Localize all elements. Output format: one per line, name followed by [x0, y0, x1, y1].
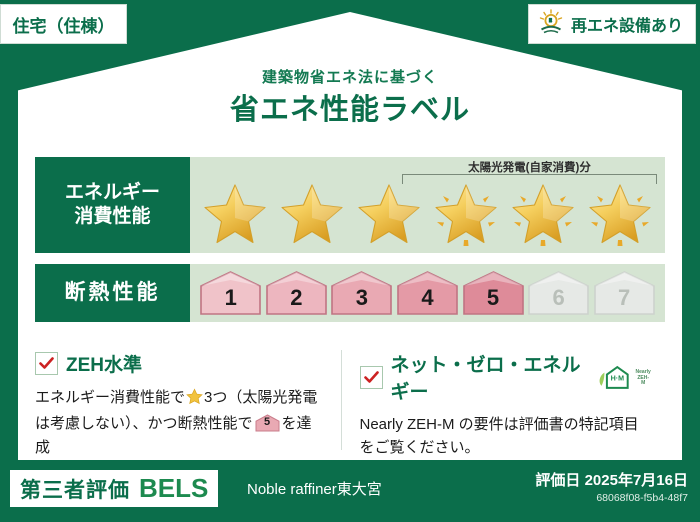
grade-badge-inline: 5: [255, 414, 280, 432]
insulation-label-text: 断熱性能: [65, 280, 161, 306]
zeh-standard-column: ZEH水準 エネルギー消費性能で 3つ（太陽光発電は考慮しない）、かつ断熱性能で…: [35, 350, 341, 450]
bels-logo-text: BELS: [139, 473, 208, 504]
criteria-columns: ZEH水準 エネルギー消費性能で 3つ（太陽光発電は考慮しない）、かつ断熱性能で…: [35, 350, 665, 450]
insulation-grade-number: 6: [552, 285, 564, 316]
zeh-title: ZEH水準: [66, 350, 142, 377]
zeh-description: エネルギー消費性能で 3つ（太陽光発電は考慮しない）、かつ断熱性能で 5 を達成: [35, 386, 327, 459]
building-name: Noble raffiner東大宮: [247, 478, 382, 499]
star-icon: [186, 388, 203, 412]
evaluation-id: 68068f08-f5b4-48f7: [596, 492, 688, 504]
renewable-badge-text: 再エネ設備あり: [571, 12, 683, 36]
net-zero-energy-column: ネット・ゼロ・エネルギー H·M Nearly ZEH-M Nearly ZEH…: [341, 350, 666, 450]
insulation-grade-2: 2: [265, 270, 328, 316]
zeh-text-part2: 3つ（太陽光発電: [204, 389, 317, 406]
insulation-performance-row: 断熱性能 1 2 3 4 5: [35, 264, 665, 322]
insulation-grade-list: 1 2 3 4 5 6 7: [190, 264, 665, 322]
star-icon: [354, 178, 424, 248]
dwelling-type-tag: 住宅（住棟）: [0, 4, 127, 44]
nze-heading: ネット・ゼロ・エネルギー H·M Nearly ZEH-M: [360, 350, 652, 404]
energy-performance-label: 住宅（住棟） 再エネ設備あり 建築物省エネ法に基づく 省エネ性能ラベル: [0, 0, 700, 522]
star-rating: [190, 175, 665, 251]
star-icon: [200, 178, 270, 248]
star-icon: [508, 178, 578, 248]
solar-bracket: [402, 174, 657, 184]
insulation-grade-1: 1: [199, 270, 262, 316]
zeh-text-part3: は考慮しない）、かつ断熱性能で: [35, 415, 253, 432]
insulation-grade-number: 2: [290, 285, 302, 316]
insulation-grade-4: 4: [396, 270, 459, 316]
insulation-grade-5: 5: [462, 270, 525, 316]
insulation-grades-panel: 1 2 3 4 5 6 7: [190, 264, 665, 322]
insulation-grade-7: 7: [593, 270, 656, 316]
energy-label-line2: 消費性能: [74, 205, 150, 229]
star-icon: [431, 178, 501, 248]
energy-performance-label-block: エネルギー 消費性能: [35, 157, 190, 253]
label-footer: 第三者評価 BELS Noble raffiner東大宮 評価日 2025年7月…: [0, 462, 700, 522]
insulation-label-block: 断熱性能: [35, 264, 190, 322]
solar-note-text: 太陽光発電(自家消費)分: [402, 159, 657, 175]
bels-certification-box: 第三者評価 BELS: [10, 470, 218, 507]
page-title: 省エネ性能ラベル: [0, 86, 700, 128]
grade-badge-inline-number: 5: [255, 414, 280, 432]
evaluation-date: 評価日 2025年7月16日: [535, 469, 688, 490]
insulation-grade-6: 6: [527, 270, 590, 316]
third-party-label: 第三者評価: [20, 474, 130, 504]
energy-performance-row: エネルギー 消費性能 太陽光発電(自家消費)分: [35, 157, 665, 253]
energy-stars-panel: 太陽光発電(自家消費)分: [190, 157, 665, 253]
solar-sun-icon: [538, 9, 564, 40]
dwelling-type-text: 住宅（住棟）: [13, 12, 115, 37]
star-icon: [277, 178, 347, 248]
zeh-m-logo-icon: H·M Nearly ZEH-M: [598, 364, 651, 390]
star-icon: [585, 178, 655, 248]
nze-description: Nearly ZEH-M の要件は評価書の特記項目をご覧ください。: [360, 413, 652, 460]
zeh-heading: ZEH水準: [35, 350, 327, 377]
check-icon: [360, 366, 383, 389]
svg-text:H·M: H·M: [610, 374, 624, 382]
insulation-grade-number: 4: [421, 285, 433, 316]
check-icon: [35, 352, 58, 375]
nze-title: ネット・ゼロ・エネルギー: [391, 350, 586, 404]
renewable-equipment-badge: 再エネ設備あり: [528, 4, 696, 44]
label-subtitle: 建築物省エネ法に基づく: [0, 66, 700, 87]
energy-label-line1: エネルギー: [65, 181, 160, 205]
insulation-grade-3: 3: [330, 270, 393, 316]
zeh-text-part1: エネルギー消費性能で: [35, 389, 185, 406]
insulation-grade-number: 1: [225, 285, 237, 316]
insulation-grade-number: 7: [618, 285, 630, 316]
zeh-m-caption-line2: ZEH-M: [637, 375, 649, 387]
zeh-m-logo-caption: Nearly ZEH-M: [635, 370, 651, 390]
insulation-grade-number: 3: [356, 285, 368, 316]
insulation-grade-number: 5: [487, 285, 499, 316]
